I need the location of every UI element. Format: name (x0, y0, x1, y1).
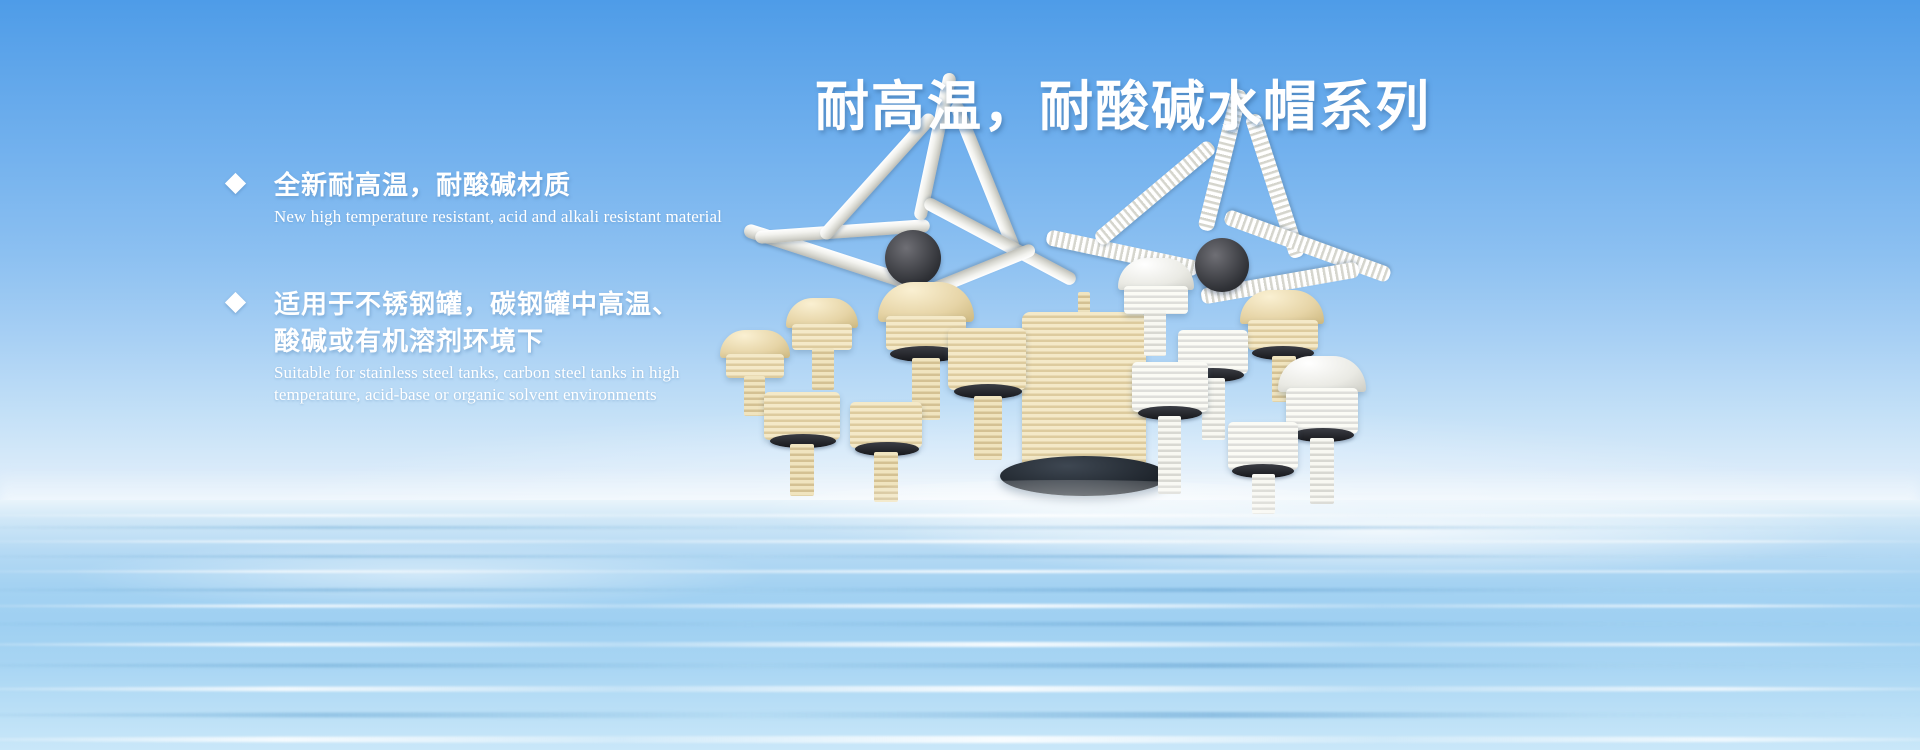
water-ripple (0, 588, 1920, 592)
product-banner: 耐高温，耐酸碱水帽系列 全新耐高温，耐酸碱材质 New high tempera… (0, 0, 1920, 750)
water-ripple (0, 712, 1920, 718)
nozzle-hub (1195, 238, 1249, 292)
feature-item-material: 全新耐高温，耐酸碱材质 New high temperature resista… (228, 168, 1048, 227)
feature-list: 全新耐高温，耐酸碱材质 New high temperature resista… (228, 168, 1048, 457)
nozzle-cap-white (1132, 362, 1208, 412)
water-ripple (0, 686, 1920, 692)
water-ripple (0, 555, 1920, 558)
nozzle-cap-white (1228, 422, 1298, 470)
feature-heading-en-line1: Suitable for stainless steel tanks, carb… (274, 362, 1048, 383)
diamond-icon (225, 173, 246, 194)
product-reflection (760, 480, 1380, 550)
water-ripple (0, 736, 1920, 743)
feature-heading-cn-line2: 酸碱或有机溶剂环境下 (274, 324, 1048, 361)
nozzle-dome-white (1278, 356, 1366, 392)
nozzle-dome (1240, 290, 1324, 324)
water-ripple (0, 642, 1920, 647)
water-ripple (0, 622, 1920, 626)
page-title: 耐高温，耐酸碱水帽系列 (815, 62, 1431, 141)
feature-heading-en: New high temperature resistant, acid and… (274, 206, 1048, 227)
feature-heading-en-line2: temperature, acid-base or organic solven… (274, 384, 1048, 405)
water-ripple (0, 604, 1920, 608)
diamond-icon (225, 292, 246, 313)
water-ripple (0, 570, 1920, 573)
feature-heading-cn-line1: 适用于不锈钢罐，碳钢罐中高温、 (274, 287, 1048, 324)
nozzle-arm-ribbed (1092, 139, 1217, 248)
water-ripple (0, 663, 1920, 668)
nozzle-stem-white (1144, 310, 1166, 356)
feature-heading-cn: 全新耐高温，耐酸碱材质 (274, 168, 1048, 205)
feature-item-application: 适用于不锈钢罐，碳钢罐中高温、 酸碱或有机溶剂环境下 Suitable for … (228, 287, 1048, 405)
